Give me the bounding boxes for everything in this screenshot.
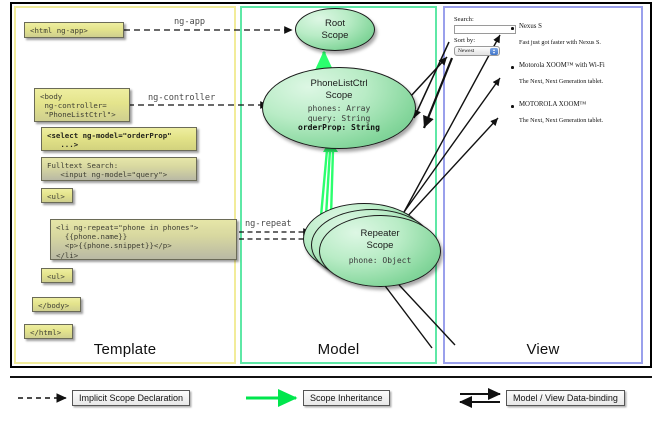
legend-label-implicit-scope-declaration: Implicit Scope Declaration bbox=[72, 390, 190, 406]
legend-icon-layer bbox=[0, 0, 661, 425]
legend-label-scope-inheritance: Scope Inheritance bbox=[303, 390, 390, 406]
legend-label-model-view-data-binding: Model / View Data-binding bbox=[506, 390, 625, 406]
diagram-stage: Template Model View bbox=[0, 0, 661, 425]
